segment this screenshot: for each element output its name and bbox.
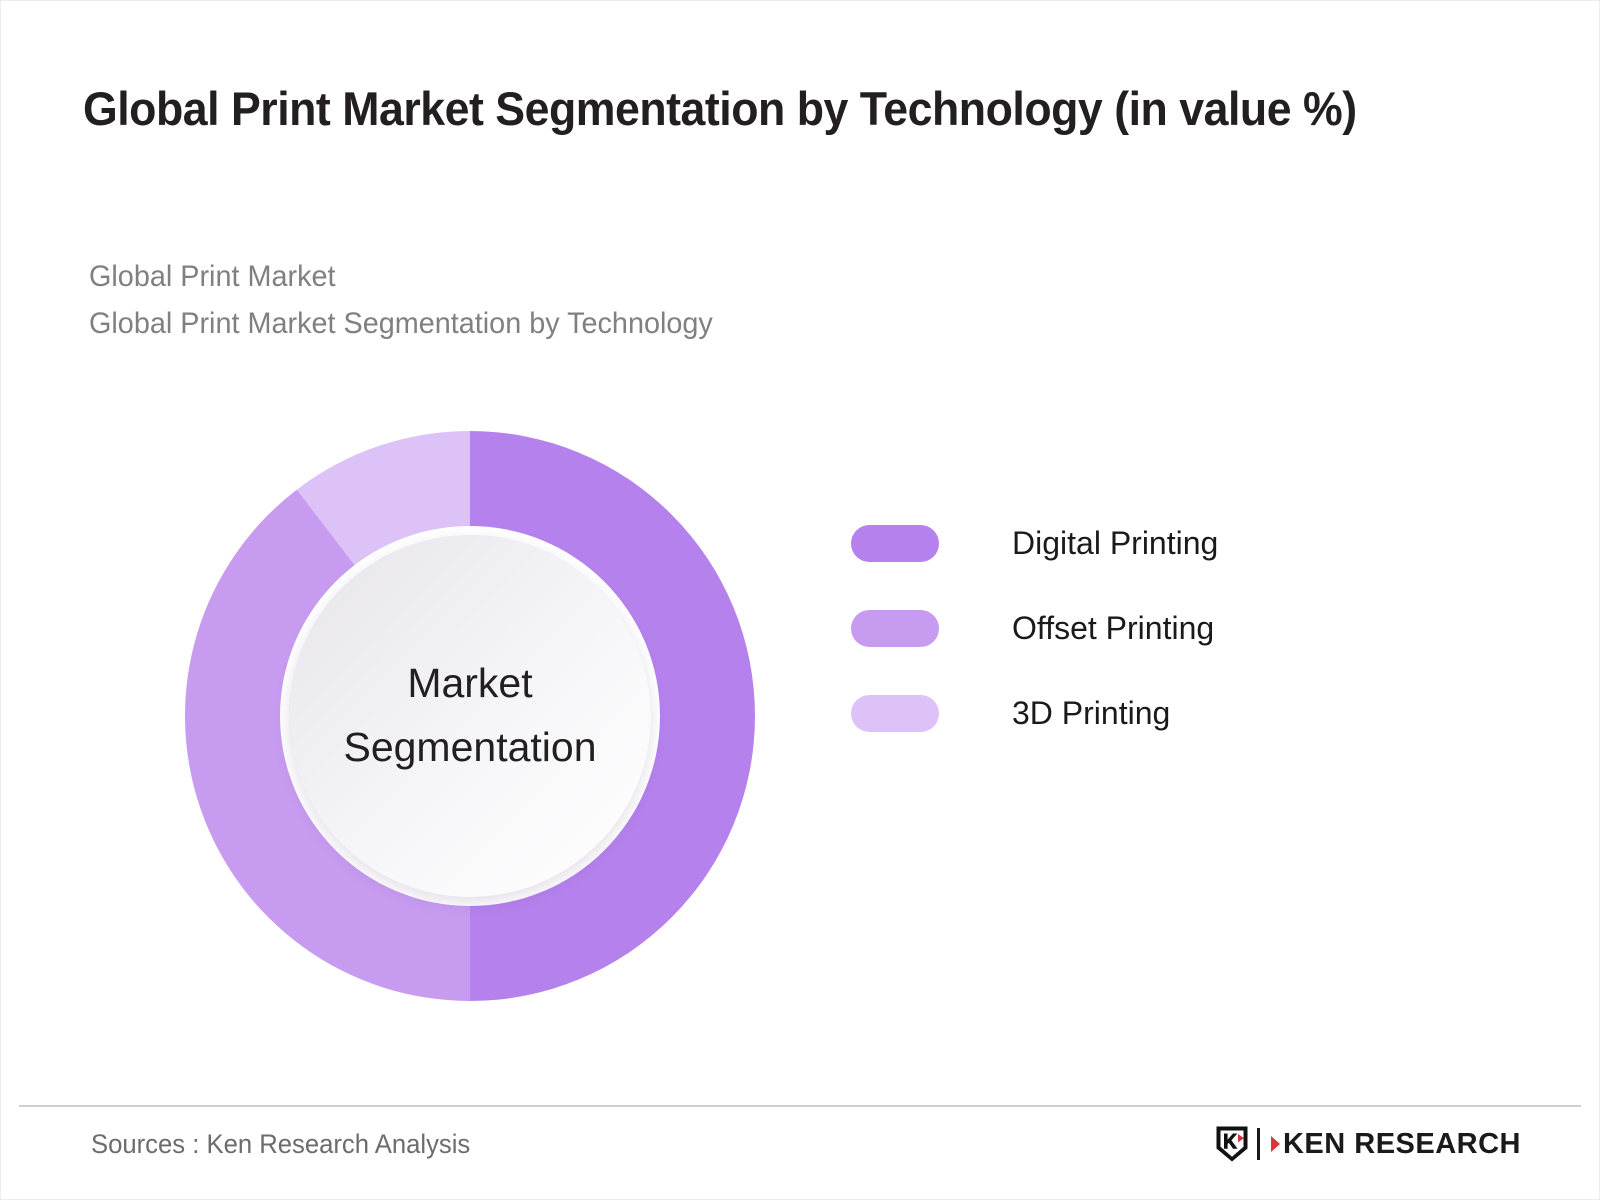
ken-research-logo: KEN RESEARCH [1215, 1123, 1521, 1165]
slide-canvas: Global Print Market Segmentation by Tech… [0, 0, 1600, 1200]
brand-wordmark: KEN RESEARCH [1269, 1128, 1521, 1161]
legend-item-digital-printing[interactable]: Digital Printing [851, 501, 1451, 586]
legend-item-3d-printing[interactable]: 3D Printing [851, 671, 1451, 756]
red-triangle-icon [1269, 1133, 1282, 1155]
donut-center-label: Market Segmentation [343, 652, 596, 779]
donut-ring-container: Market Segmentation [185, 431, 755, 1001]
footer-divider [19, 1105, 1581, 1107]
ken-research-shield-icon [1215, 1125, 1249, 1163]
donut-chart: Market Segmentation Digital Printing Off… [1, 1, 1600, 1071]
legend-swatch-icon-3d-printing [851, 695, 939, 732]
chart-legend: Digital Printing Offset Printing 3D Prin… [851, 501, 1451, 756]
legend-item-offset-printing[interactable]: Offset Printing [851, 586, 1451, 671]
legend-label-digital-printing: Digital Printing [1012, 525, 1218, 562]
brand-name-text: KEN RESEARCH [1283, 1128, 1521, 1161]
sources-note: Sources : Ken Research Analysis [91, 1129, 470, 1160]
legend-label-3d-printing: 3D Printing [1012, 695, 1170, 732]
donut-center-hub: Market Segmentation [289, 535, 651, 897]
legend-label-offset-printing: Offset Printing [1012, 610, 1214, 647]
legend-swatch-icon-digital-printing [851, 525, 939, 562]
logo-divider [1257, 1128, 1260, 1160]
legend-swatch-icon-offset-printing [851, 610, 939, 647]
